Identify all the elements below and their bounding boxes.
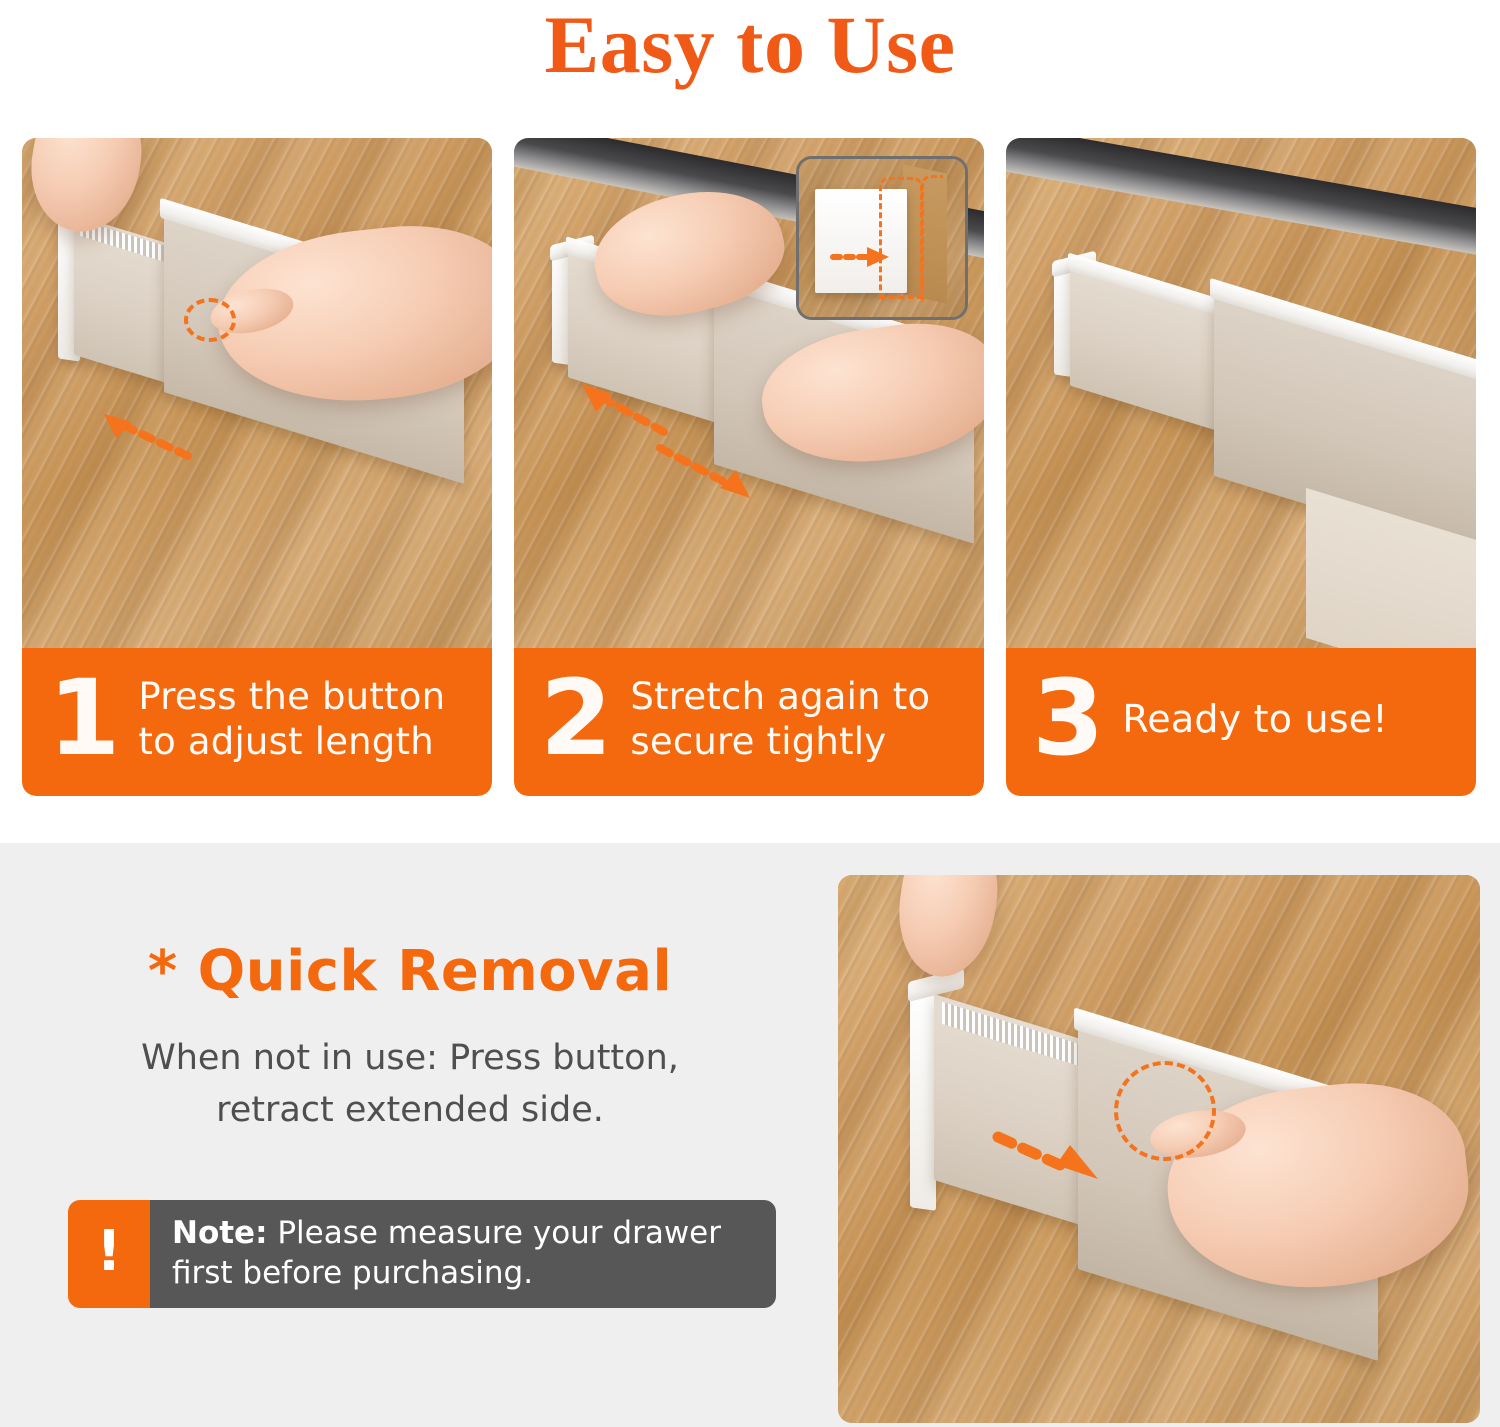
direction-arrow-left — [558, 376, 678, 442]
step-1-photo — [22, 138, 492, 648]
quick-removal-subtitle-line-1: When not in use: Press button, — [0, 1033, 820, 1085]
direction-arrow-right — [650, 438, 776, 508]
steps-row: 1 Press the button to adjust length — [22, 138, 1478, 796]
step-3-caption: 3 Ready to use! — [1006, 648, 1476, 796]
quick-removal-photo — [838, 875, 1480, 1423]
page-title: Easy to Use — [0, 0, 1500, 97]
quick-removal-subtitle: When not in use: Press button, retract e… — [0, 1033, 820, 1137]
inset-arrow-right — [829, 243, 899, 271]
inset-dashed-outline-right — [921, 175, 943, 301]
note-text: Note: Please measure your drawer first b… — [172, 1214, 758, 1293]
note-label: Note: — [172, 1215, 267, 1251]
divider-left-end — [910, 985, 936, 1211]
quick-removal-section: * Quick Removal When not in use: Press b… — [0, 843, 1500, 1427]
step-card-1: 1 Press the button to adjust length — [22, 138, 492, 796]
step-2-line-2: secure tightly — [630, 719, 930, 764]
direction-arrow-left — [70, 408, 200, 468]
quick-removal-heading: * Quick Removal — [0, 939, 820, 1004]
step-2-number: 2 — [540, 674, 612, 763]
note-body: Note: Please measure your drawer first b… — [150, 1200, 776, 1308]
step-1-number: 1 — [48, 674, 120, 763]
exclamation-icon: ! — [68, 1200, 150, 1308]
step-3-photo — [1006, 138, 1476, 648]
quick-removal-subtitle-line-2: retract extended side. — [0, 1085, 820, 1137]
step-2-photo — [514, 138, 984, 648]
step-1-caption: 1 Press the button to adjust length — [22, 648, 492, 796]
inset-callout — [796, 156, 968, 320]
button-highlight-circle — [184, 298, 236, 342]
step-card-3: 3 Ready to use! — [1006, 138, 1476, 796]
step-3-line-1: Ready to use! — [1122, 696, 1387, 742]
step-3-number: 3 — [1032, 674, 1104, 763]
step-1-text: Press the button to adjust length — [138, 674, 445, 764]
step-card-2: 2 Stretch again to secure tightly — [514, 138, 984, 796]
direction-arrow-right — [990, 1125, 1130, 1191]
inset-dashed-outline — [879, 177, 923, 299]
infographic-page: Easy to Use — [0, 0, 1500, 1427]
step-2-caption: 2 Stretch again to secure tightly — [514, 648, 984, 796]
step-2-line-1: Stretch again to — [630, 674, 930, 719]
note-box: ! Note: Please measure your drawer first… — [68, 1200, 776, 1308]
step-1-line-2: to adjust length — [138, 719, 445, 764]
step-3-text: Ready to use! — [1122, 696, 1387, 742]
step-1-line-1: Press the button — [138, 674, 445, 719]
step-2-text: Stretch again to secure tightly — [630, 674, 930, 764]
